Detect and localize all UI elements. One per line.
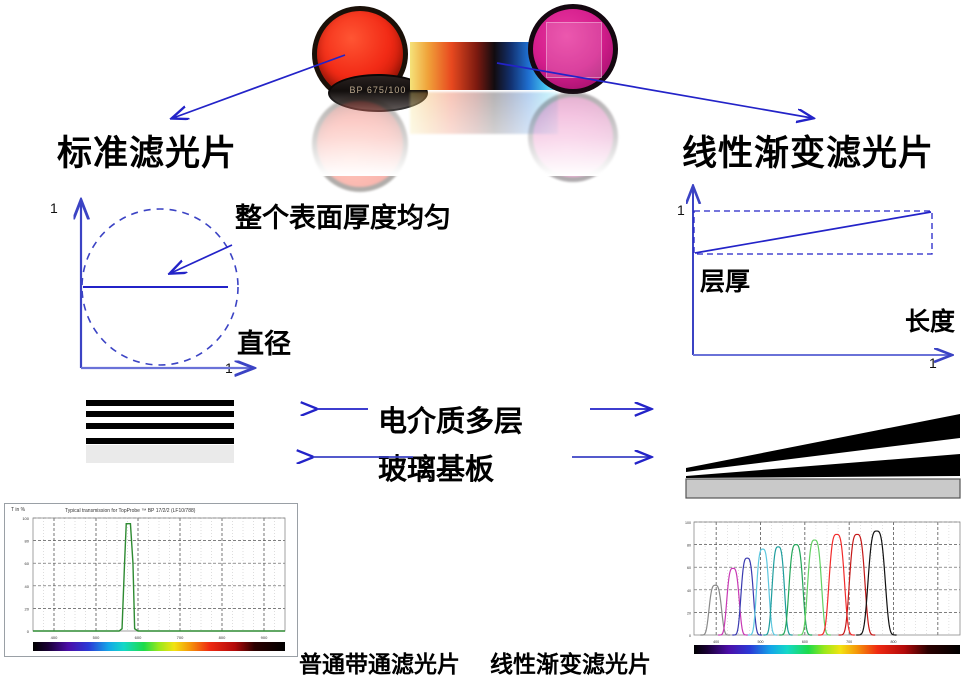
svg-text:100: 100 (685, 521, 691, 525)
dielectric-layer (86, 438, 234, 444)
heading-standard-filter: 标准滤光片 (57, 125, 237, 176)
bandpass-y-ticklabels: 020406080100 (22, 516, 29, 634)
svg-text:0: 0 (27, 629, 30, 634)
bandpass-x-ticklabels: 400500600700800900 (51, 635, 268, 640)
standard-filter-diagram (40, 190, 310, 380)
svg-text:600: 600 (135, 635, 142, 640)
lvf-layer-stack (680, 388, 975, 486)
arrow-to-thickness-line (171, 245, 232, 273)
svg-text:500: 500 (758, 640, 764, 644)
bandpass-spectrum-bar (33, 642, 285, 651)
standard-filter-layer-stack (86, 400, 234, 470)
lvf-spectrum-bar (694, 645, 960, 654)
svg-text:400: 400 (713, 640, 719, 644)
svg-text:60: 60 (687, 566, 691, 570)
svg-text:80: 80 (687, 544, 691, 548)
svg-text:0: 0 (689, 634, 691, 638)
lvf-diagram (655, 180, 975, 370)
svg-text:100: 100 (22, 516, 29, 521)
svg-text:80: 80 (25, 539, 30, 544)
caption-lvf: 线性渐变滤光片 (490, 645, 651, 679)
glass-substrate (86, 445, 234, 463)
svg-text:700: 700 (846, 640, 852, 644)
arrow-to-lvf (497, 63, 812, 118)
svg-text:900: 900 (261, 635, 268, 640)
dielectric-layer (86, 423, 234, 429)
lvf-plot: 020406080100 400500600700800 (668, 512, 970, 660)
svg-text:20: 20 (687, 611, 691, 615)
svg-text:40: 40 (25, 584, 30, 589)
middle-arrows (250, 390, 730, 485)
svg-text:500: 500 (93, 635, 100, 640)
svg-text:60: 60 (25, 561, 30, 566)
bandpass-gridlines (33, 518, 285, 631)
svg-text:40: 40 (687, 589, 691, 593)
svg-text:20: 20 (25, 606, 30, 611)
svg-text:400: 400 (51, 635, 58, 640)
svg-text:600: 600 (802, 640, 808, 644)
svg-text:700: 700 (177, 635, 184, 640)
arrow-to-standard-filter (173, 55, 345, 118)
svg-text:800: 800 (219, 635, 226, 640)
bandpass-plot: 020406080100 400500600700800900 (5, 504, 297, 656)
dielectric-layer (86, 411, 234, 417)
glass-substrate (686, 479, 960, 498)
dielectric-layer (86, 400, 234, 406)
bandpass-chart: T in % Typical transmission for TopProbe… (4, 503, 298, 657)
linear-thickness-line (695, 212, 931, 253)
lvf-chart: 020406080100 400500600700800 (668, 512, 970, 660)
caption-bandpass: 普通带通滤光片 (299, 645, 460, 679)
heading-linear-variable-filter: 线性渐变滤光片 (682, 125, 934, 176)
svg-text:800: 800 (891, 640, 897, 644)
